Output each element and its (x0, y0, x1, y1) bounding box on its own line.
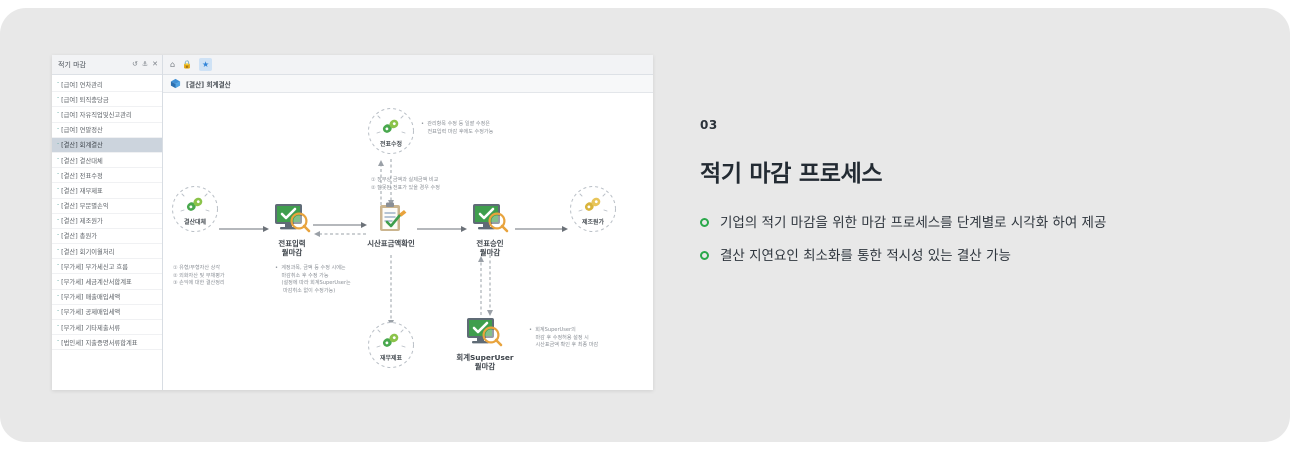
refresh-icon[interactable]: ↺ (132, 61, 138, 68)
close-icon[interactable]: ✕ (152, 61, 158, 68)
sidebar-item-label: [결산] 전표수정 (61, 171, 103, 180)
star-icon[interactable]: ★ (199, 58, 212, 71)
erp-sidebar: 적기 마감 ↺ ⚓ ✕ -[급여] 연차관리-[급여] 퇴직충당금-[급여] 자… (52, 55, 163, 390)
annotation-superuser: • 회계SuperUser의 마감 후 수정허용 설정 시 시산표금액 확인 후… (529, 327, 598, 350)
bullet-dash-icon: - (57, 293, 59, 299)
process-diagram-canvas: 전표수정 (163, 93, 653, 390)
sidebar-item-label: [부가세] 공제매입세액 (61, 307, 120, 316)
sidebar-item-14[interactable]: -[부가세] 매출매입세액 (52, 290, 162, 305)
node-hoegye-superuser-icon (463, 315, 505, 351)
bullet-dash-icon: - (57, 308, 59, 314)
pin-icon[interactable]: ⚓ (142, 61, 148, 68)
bullet-text: 기업의 적기 마감을 위한 마감 프로세스를 단계별로 시각화 하여 제공 (720, 214, 1106, 233)
sidebar-item-13[interactable]: -[부가세] 세금계산서합계표 (52, 274, 162, 289)
bullet-dash-icon: - (57, 262, 59, 268)
slide-page: 적기 마감 ↺ ⚓ ✕ -[급여] 연차관리-[급여] 퇴직충당금-[급여] 자… (0, 0, 1300, 450)
sidebar-item-6[interactable]: -[결산] 전표수정 (52, 168, 162, 183)
sidebar-item-label: [결산] 부문별손익 (61, 201, 108, 210)
list-item: 결산 지연요인 최소화를 통한 적시성 있는 결산 가능 (700, 247, 1170, 266)
sidebar-item-label: [결산] 결산대체 (61, 156, 103, 165)
sidebar-item-8[interactable]: -[결산] 부문별손익 (52, 199, 162, 214)
slide-kicker: 03 (700, 118, 1170, 132)
erp-toolbar: ⌂ 🔒 ★ (163, 55, 653, 75)
sidebar-item-label: [결산] 총원가 (61, 231, 97, 240)
bullet-dash-icon: - (57, 110, 59, 116)
annotation-jeonpyo-sujeong: • 관리항목 수정 등 일괄 수정은 전표입력 마감 후에도 수정가능 (421, 121, 493, 136)
node-sisanpyo-label: 시산표금액확인 (339, 239, 443, 248)
sidebar-item-12[interactable]: -[부가세] 부가세신고 흐름 (52, 259, 162, 274)
sidebar-item-label: [부가세] 부가세신고 흐름 (61, 262, 128, 271)
bullet-dash-icon: - (57, 202, 59, 208)
sidebar-header-icons: ↺ ⚓ ✕ (132, 61, 158, 68)
sidebar-item-16[interactable]: -[부가세] 기타제출서류 (52, 320, 162, 335)
sidebar-item-label: [부가세] 기타제출서류 (61, 323, 120, 332)
sidebar-item-label: [부가세] 세금계산서합계표 (61, 277, 132, 286)
sidebar-item-7[interactable]: -[결산] 재무제표 (52, 183, 162, 198)
node-hoegye-superuser-label: 회계SuperUser 월마감 (437, 353, 533, 372)
node-jaemu-jepyo-label: 재무제표 (357, 355, 425, 363)
sidebar-header: 적기 마감 ↺ ⚓ ✕ (52, 55, 162, 75)
bullet-ring-icon (700, 251, 709, 260)
node-jeonpyo-seungin-icon (469, 201, 511, 237)
node-jeonpyo-sujeong-label: 전표수정 (357, 141, 425, 149)
bullet-dash-icon: - (57, 186, 59, 192)
node-jeonpyo-seungin-label: 전표승인 월마감 (457, 239, 523, 258)
sidebar-item-1[interactable]: -[급여] 퇴직충당금 (52, 92, 162, 107)
tab-settings[interactable]: [결산] 회계결산 (186, 79, 231, 89)
bullet-ring-icon (700, 218, 709, 227)
cube-icon (170, 78, 181, 89)
slide-text-panel: 03 적기 마감 프로세스 기업의 적기 마감을 위한 마감 프로세스를 단계별… (700, 118, 1170, 280)
sidebar-item-label: [결산] 회계결산 (61, 140, 103, 149)
sidebar-item-9[interactable]: -[결산] 제조원가 (52, 214, 162, 229)
annotation-jeonpyo-ipryeok: • 계정과목, 금액 등 수정 시에는 마감취소 후 수정 가능 (설정에 따라… (275, 265, 351, 296)
home-icon[interactable]: ⌂ (170, 61, 175, 69)
bullet-dash-icon: - (57, 95, 59, 101)
sidebar-title: 적기 마감 (58, 60, 132, 70)
node-jeonpyo-ipryeok-label: 전표입력 월마감 (259, 239, 325, 258)
sidebar-item-5[interactable]: -[결산] 결산대체 (52, 153, 162, 168)
bullet-dash-icon: - (57, 323, 59, 329)
node-sisanpyo-icon (373, 201, 409, 237)
sidebar-item-label: [결산] 제조원가 (61, 216, 103, 225)
bullet-dash-icon: - (57, 80, 59, 86)
sidebar-item-4[interactable]: -[결산] 회계결산 (52, 138, 162, 153)
bullet-dash-icon: - (57, 156, 59, 162)
bullet-dash-icon: - (57, 171, 59, 177)
sidebar-item-label: [결산] 회기이월처리 (61, 247, 114, 256)
node-jejo-wonga-label: 제조원가 (559, 219, 627, 227)
sidebar-item-label: [법인세] 지출증명서류합계표 (61, 338, 137, 347)
node-jeonpyo-ipryeok-icon (271, 201, 313, 237)
bullet-dash-icon: - (57, 141, 59, 147)
sidebar-item-10[interactable]: -[결산] 총원가 (52, 229, 162, 244)
node-gyeolsan-daeche-label: 결산대체 (161, 219, 229, 227)
bullet-dash-icon: - (57, 247, 59, 253)
bullet-dash-icon: - (57, 278, 59, 284)
sidebar-item-3[interactable]: -[급여] 연말정산 (52, 123, 162, 138)
erp-main-area: ⌂ 🔒 ★ [결산] 회계결산 (163, 55, 653, 390)
lock-icon[interactable]: 🔒 (182, 61, 192, 69)
erp-tab-bar: [결산] 회계결산 (163, 75, 653, 93)
sidebar-item-2[interactable]: -[급여] 자유직업및신고관리 (52, 107, 162, 122)
bullet-dash-icon: - (57, 232, 59, 238)
page-title: 적기 마감 프로세스 (700, 154, 1170, 188)
sidebar-item-label: [급여] 연말정산 (61, 125, 103, 134)
sidebar-item-label: [급여] 퇴직충당금 (61, 95, 108, 104)
annotation-sisanpyo-top: ① 장부상 금액과 실제금액 비교 ② 잘못된 전표가 있을 경우 수정 (371, 177, 440, 192)
list-item: 기업의 적기 마감을 위한 마감 프로세스를 단계별로 시각화 하여 제공 (700, 214, 1170, 233)
sidebar-item-11[interactable]: -[결산] 회기이월처리 (52, 244, 162, 259)
bullet-dash-icon: - (57, 126, 59, 132)
bullet-text: 결산 지연요인 최소화를 통한 적시성 있는 결산 가능 (720, 247, 1011, 266)
sidebar-menu-list: -[급여] 연차관리-[급여] 퇴직충당금-[급여] 자유직업및신고관리-[급여… (52, 75, 162, 390)
bullet-dash-icon: - (57, 338, 59, 344)
sidebar-item-label: [급여] 연차관리 (61, 80, 103, 89)
annotation-gyeolsan-daeche: ① 유형/무형자산 상각 ② 외화자산 및 부채평가 ③ 손익에 대한 결산정리 (173, 265, 225, 288)
sidebar-item-17[interactable]: -[법인세] 지출증명서류합계표 (52, 335, 162, 350)
bullet-dash-icon: - (57, 217, 59, 223)
sidebar-item-label: [결산] 재무제표 (61, 186, 103, 195)
sidebar-item-0[interactable]: -[급여] 연차관리 (52, 77, 162, 92)
sidebar-item-label: [급여] 자유직업및신고관리 (61, 110, 132, 119)
sidebar-item-label: [부가세] 매출매입세액 (61, 292, 120, 301)
sidebar-item-15[interactable]: -[부가세] 공제매입세액 (52, 305, 162, 320)
erp-application-window: 적기 마감 ↺ ⚓ ✕ -[급여] 연차관리-[급여] 퇴직충당금-[급여] 자… (52, 55, 653, 390)
feature-bullet-list: 기업의 적기 마감을 위한 마감 프로세스를 단계별로 시각화 하여 제공결산 … (700, 214, 1170, 266)
